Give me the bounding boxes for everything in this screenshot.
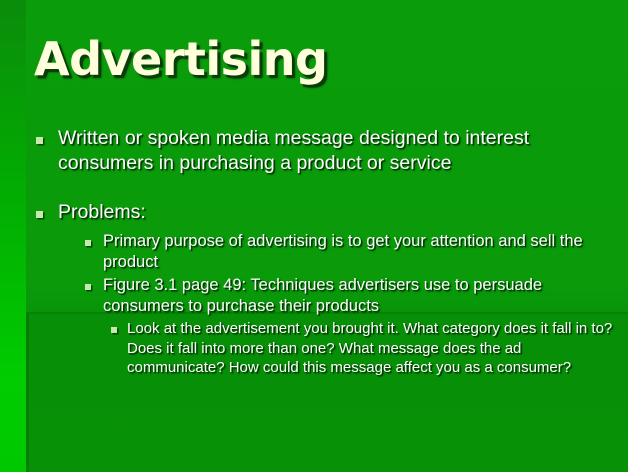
square-bullet-icon [85, 240, 91, 246]
bullet-spacer [36, 182, 622, 200]
bullet-item-level1[interactable]: Written or spoken media message designed… [36, 126, 622, 176]
bullet-item-level2[interactable]: Figure 3.1 page 49: Techniques advertise… [85, 275, 622, 317]
square-bullet-icon [85, 284, 91, 290]
bullet-text: Figure 3.1 page 49: Techniques advertise… [103, 275, 622, 317]
slide-title-placeholder[interactable]: Advertising [34, 30, 594, 100]
bullet-text: Written or spoken media message designed… [58, 126, 622, 176]
square-bullet-icon [36, 211, 43, 218]
page-title: Advertising [34, 30, 594, 88]
bullet-text: Look at the advertisement you brought it… [127, 319, 622, 378]
square-bullet-icon [111, 327, 117, 333]
bullet-item-level3[interactable]: Look at the advertisement you brought it… [111, 319, 622, 378]
presentation-slide: Advertising Written or spoken media mess… [0, 0, 628, 472]
bullet-text: Problems: [58, 200, 146, 225]
bullet-item-level2[interactable]: Primary purpose of advertising is to get… [85, 231, 622, 273]
square-bullet-icon [36, 137, 43, 144]
decorative-left-stripe [0, 0, 26, 472]
bullet-item-level1-problems[interactable]: Problems: [36, 200, 622, 225]
slide-body-placeholder[interactable]: Written or spoken media message designed… [36, 126, 622, 380]
bullet-text: Primary purpose of advertising is to get… [103, 231, 622, 273]
